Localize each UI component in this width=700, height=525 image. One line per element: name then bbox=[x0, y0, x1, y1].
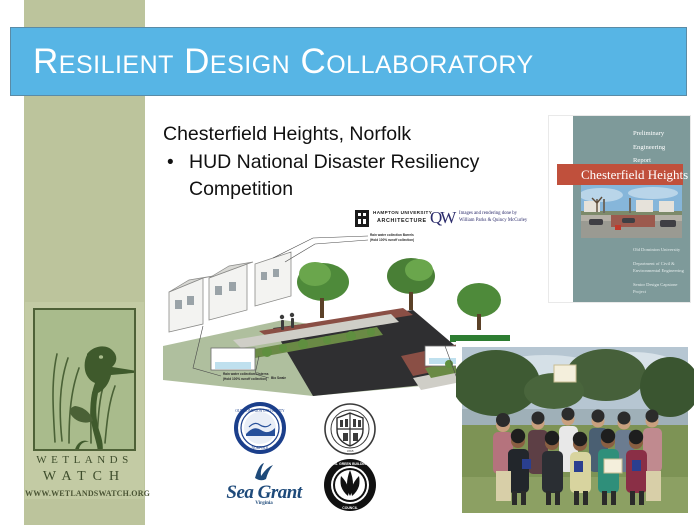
bullet-label: HUD National Disaster Resiliency Competi… bbox=[189, 149, 543, 203]
usgbc-seal-icon: U.S. GREEN BUILDING COUNCIL bbox=[323, 458, 377, 512]
page-title: Resilient Design Collaboratory bbox=[33, 36, 534, 88]
sea-grant-logo: Sea Grant Virginia bbox=[225, 460, 303, 510]
report-title-band: Chesterfield Heights bbox=[557, 164, 683, 185]
odu-seal-icon: OLD DOMINION UNIVERSITY NORFOLK bbox=[227, 402, 293, 454]
partner-logos: OLD DOMINION UNIVERSITY NORFOLK 1868 bbox=[225, 400, 400, 515]
report-heading-line2: Engineering bbox=[633, 141, 687, 155]
award-team-group-photo bbox=[456, 341, 694, 519]
report-footer-line-2: Senior Design Capstone Project bbox=[633, 281, 689, 296]
body-copy: Chesterfield Heights, Norfolk • HUD Nati… bbox=[163, 121, 543, 203]
svg-text:1868: 1868 bbox=[347, 449, 354, 453]
heron-icon bbox=[35, 310, 134, 449]
report-title: Chesterfield Heights bbox=[581, 167, 688, 183]
report-cover-image: Preliminary Engineering Report Chesterfi… bbox=[549, 116, 690, 302]
report-footer-line-0: Old Dominion University bbox=[633, 246, 689, 254]
credit-note-line1: Images and rendering done by bbox=[459, 211, 537, 218]
logo-word-line1: WETLANDS bbox=[25, 454, 144, 466]
svg-text:OLD DOMINION UNIVERSITY: OLD DOMINION UNIVERSITY bbox=[235, 409, 285, 413]
credit-note-line2: William Parks & Quincy McCurley bbox=[459, 218, 537, 225]
sea-grant-sub: Virginia bbox=[225, 501, 303, 506]
hampton-university-icon bbox=[355, 210, 369, 227]
report-heading-line1: Preliminary bbox=[633, 127, 687, 141]
bullet-item: • HUD National Disaster Resiliency Compe… bbox=[163, 149, 543, 203]
credit-note: Images and rendering done by William Par… bbox=[459, 211, 537, 224]
rendering-credits: HAMPTON UNIVERSITY ARCHITECTURE QW Image… bbox=[355, 208, 530, 230]
report-heading: Preliminary Engineering Report bbox=[633, 127, 687, 168]
title-banner: Resilient Design Collaboratory bbox=[10, 27, 687, 96]
svg-text:U.S. GREEN BUILDING: U.S. GREEN BUILDING bbox=[332, 462, 369, 466]
svg-text:(Hold 100% runoff collection): (Hold 100% runoff collection) bbox=[223, 377, 267, 381]
report-white-margin bbox=[549, 116, 573, 302]
heron-emblem-frame bbox=[33, 308, 136, 451]
wetlands-watch-logo: WETLANDS WATCH WWW.WETLANDSWATCH.ORG bbox=[25, 302, 144, 499]
report-footer-line-1: Department of Civil & Environmental Engi… bbox=[633, 260, 689, 275]
report-street-photo bbox=[581, 185, 682, 238]
svg-text:Rain water collection Barrels: Rain water collection Barrels bbox=[370, 233, 414, 237]
logo-url: WWW.WETLANDSWATCH.ORG bbox=[25, 489, 144, 498]
bullet-marker-icon: • bbox=[163, 149, 189, 203]
svg-text:Bio Swale: Bio Swale bbox=[271, 376, 286, 380]
hampton-university-crest-icon: 1868 bbox=[321, 402, 379, 456]
headline: Chesterfield Heights, Norfolk bbox=[163, 121, 543, 147]
hampton-university-line2: ARCHITECTURE bbox=[377, 218, 427, 224]
report-footer: Old Dominion University Department of Ci… bbox=[633, 246, 689, 302]
svg-text:COUNCIL: COUNCIL bbox=[342, 506, 357, 510]
qw-monogram-icon: QW bbox=[430, 208, 454, 228]
slide-canvas: Resilient Design Collaboratory Chesterfi… bbox=[0, 0, 700, 525]
svg-text:Rain water collection Cisterns: Rain water collection Cisterns bbox=[223, 372, 269, 376]
sea-grant-bird-icon bbox=[225, 460, 303, 484]
hampton-university-line1: HAMPTON UNIVERSITY bbox=[373, 210, 432, 215]
svg-text:NORFOLK: NORFOLK bbox=[252, 446, 269, 450]
logo-word-line2: WATCH bbox=[25, 469, 144, 485]
svg-text:(Hold 100% runoff collection): (Hold 100% runoff collection) bbox=[370, 238, 414, 242]
